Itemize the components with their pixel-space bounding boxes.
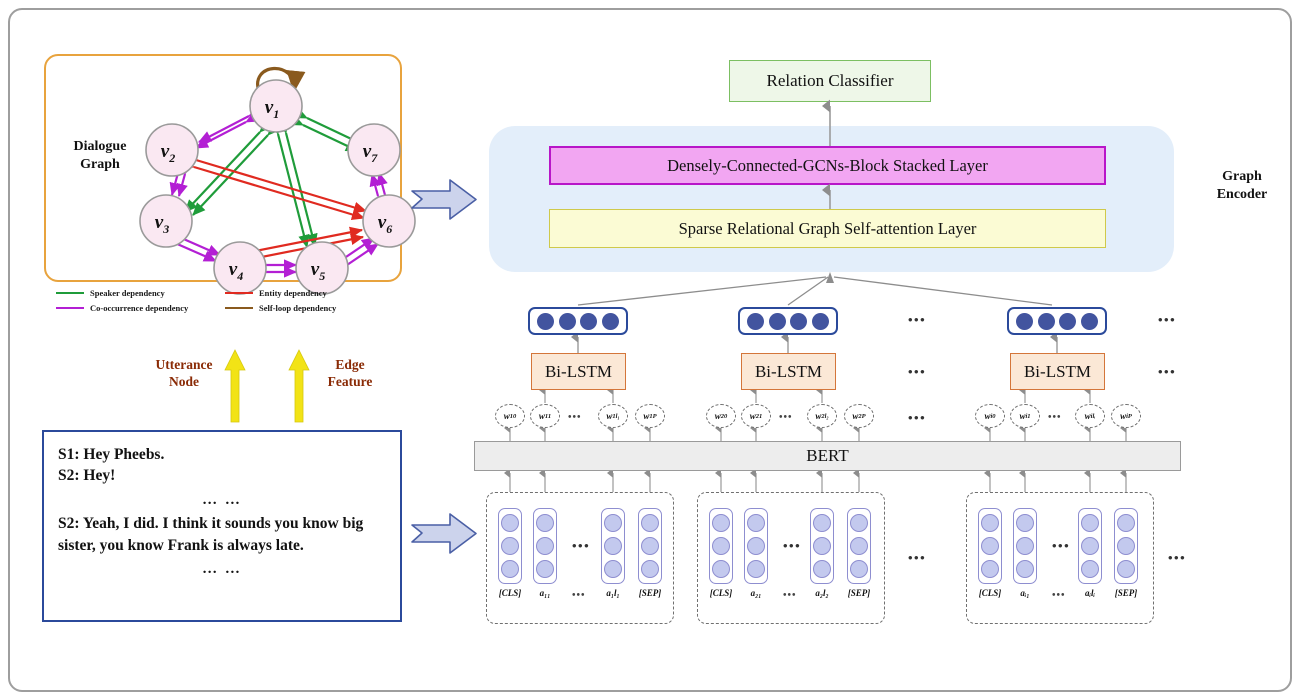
embedding-dot [712,537,730,555]
embedding-dot [604,537,622,555]
w-row-ellipsis: ••• [908,410,926,426]
token-label-ellipsis-2: ••• [783,590,797,601]
vector-dot [769,313,786,330]
embedding-dot [1117,514,1135,532]
token-label-ellipsis-3: ••• [1052,590,1066,601]
embedding-dot [747,514,765,532]
token-label-2-a21: a₂₁ [734,588,778,598]
vector-row-ellipsis-right: ••• [1158,312,1176,328]
w-token-ellipsis-2: ••• [779,412,793,423]
w-token-1-l1: w1l₁ [598,404,628,428]
bert-encoder-bar[interactable]: BERT [474,441,1181,471]
embedding-dot [501,514,519,532]
token-label-3-sep: [SEP] [1104,588,1148,598]
w-token-i-0: wi0 [975,404,1005,428]
figure-root: Dialogue Graph [0,0,1300,700]
embedding-column-2-a2l2 [810,508,834,584]
embedding-dot [747,537,765,555]
embedding-column-3-aili [1078,508,1102,584]
embedding-dot [1117,537,1135,555]
embedding-dot [536,560,554,578]
embedding-dot [501,537,519,555]
embedding-dot [981,537,999,555]
w-token-i-li: wilᵢ [1075,404,1105,428]
embedding-column-1-cls [498,508,522,584]
vector-dot [1016,313,1033,330]
w-token-i-P: wiP [1111,404,1141,428]
embedding-dot [850,560,868,578]
vector-dot [559,313,576,330]
embedding-dot [981,560,999,578]
bi-lstm-box-3[interactable]: Bi-LSTM [1010,353,1105,390]
token-label-ellipsis-1: ••• [572,590,586,601]
w-token-2-1: w21 [741,404,771,428]
bi-lstm-box-1[interactable]: Bi-LSTM [531,353,626,390]
vector-row-ellipsis: ••• [908,312,926,328]
vector-dot [580,313,597,330]
token-label-3-ai1: aᵢ₁ [1003,588,1047,598]
w-token-1-0: w10 [495,404,525,428]
embedding-dot [1016,537,1034,555]
lstm-row-ellipsis-right: ••• [1158,364,1176,380]
token-label-1-sep: [SEP] [628,588,672,598]
embedding-ellipsis-3: ••• [1052,538,1070,554]
group-row-ellipsis-right: ••• [1168,550,1186,566]
w-token-1-P: w1P [635,404,665,428]
embedding-dot [850,537,868,555]
utterance-vector-box-1 [528,307,628,335]
embedding-column-2-sep [847,508,871,584]
embedding-ellipsis-1: ••• [572,538,590,554]
vector-dot [790,313,807,330]
embedding-column-3-cls [978,508,1002,584]
embedding-dot [1081,537,1099,555]
embedding-dot [981,514,999,532]
group-row-ellipsis: ••• [908,550,926,566]
embedding-column-3-sep [1114,508,1138,584]
vector-dot [602,313,619,330]
embedding-ellipsis-2: ••• [783,538,801,554]
w-token-i-1: wi1 [1010,404,1040,428]
embedding-dot [641,560,659,578]
bi-lstm-box-2[interactable]: Bi-LSTM [741,353,836,390]
embedding-dot [712,560,730,578]
vector-dot [747,313,764,330]
w-token-1-1: w11 [530,404,560,428]
embedding-dot [1081,560,1099,578]
embedding-dot [813,514,831,532]
w-token-2-P: w2P [844,404,874,428]
embedding-dot [1117,560,1135,578]
embedding-dot [641,537,659,555]
embedding-dot [641,514,659,532]
embedding-dot [850,514,868,532]
vector-dot [537,313,554,330]
vector-dot [1059,313,1076,330]
embedding-column-3-ai1 [1013,508,1037,584]
w-token-2-l2: w2l₂ [807,404,837,428]
embedding-column-2-a21 [744,508,768,584]
embedding-dot [712,514,730,532]
token-label-2-sep: [SEP] [837,588,881,598]
token-label-1-a11: a₁₁ [523,588,567,598]
embedding-dot [1081,514,1099,532]
embedding-dot [1016,514,1034,532]
utterance-vector-box-2 [738,307,838,335]
embedding-column-1-sep [638,508,662,584]
embedding-column-1-a1l1 [601,508,625,584]
embedding-dot [813,560,831,578]
w-token-ellipsis-3: ••• [1048,412,1062,423]
embedding-dot [501,560,519,578]
embedding-dot [604,514,622,532]
embedding-dot [536,537,554,555]
w-token-2-0: w20 [706,404,736,428]
vector-dot [1038,313,1055,330]
utterance-vector-box-3 [1007,307,1107,335]
embedding-dot [747,560,765,578]
embedding-column-2-cls [709,508,733,584]
embedding-dot [813,537,831,555]
w-token-ellipsis-1: ••• [568,412,582,423]
lstm-row-ellipsis: ••• [908,364,926,380]
vector-dot [1081,313,1098,330]
embedding-dot [536,514,554,532]
embedding-dot [1016,560,1034,578]
embedding-column-1-a11 [533,508,557,584]
embedding-dot [604,560,622,578]
vector-dot [812,313,829,330]
